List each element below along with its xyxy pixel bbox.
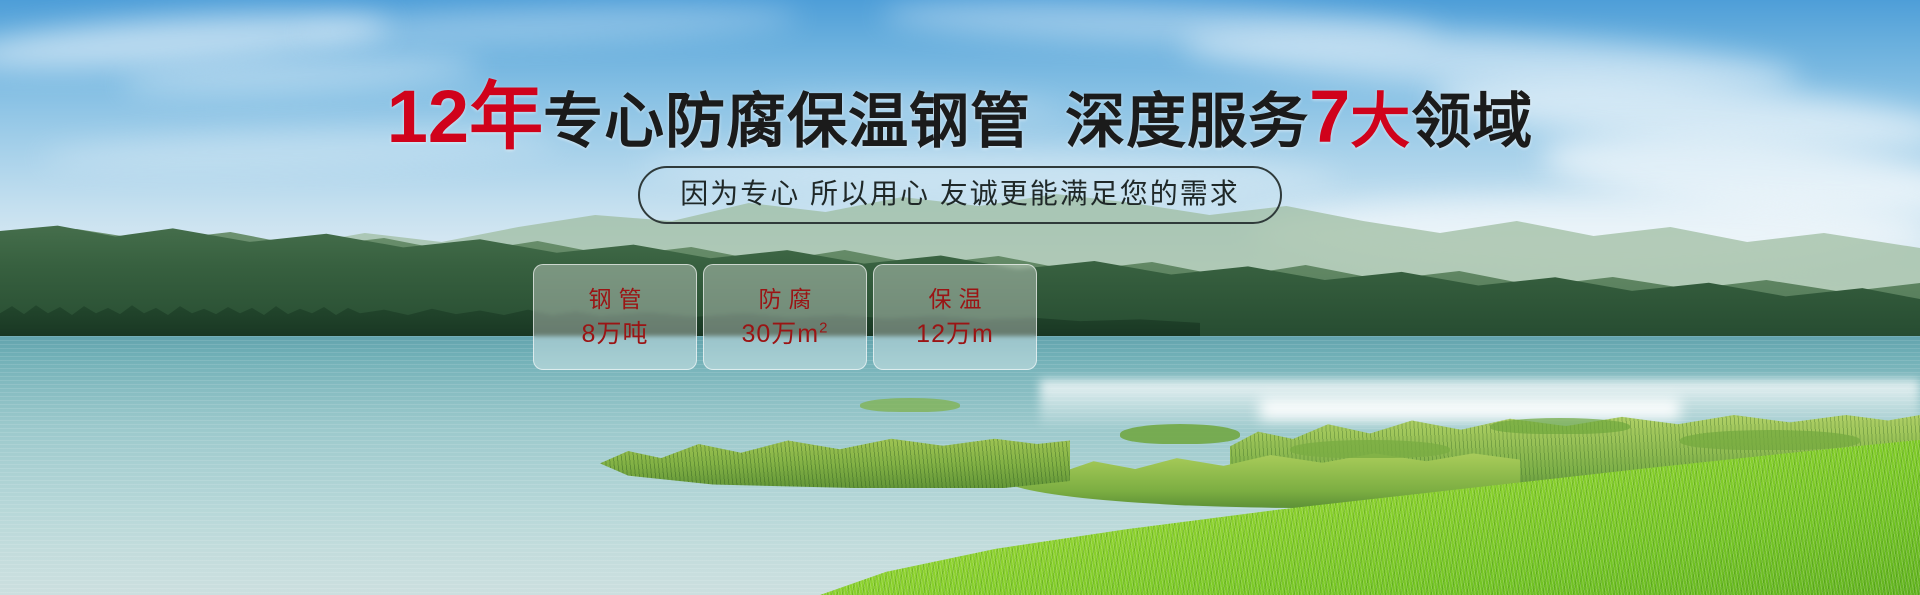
stat-card-label: 保温 [922, 286, 989, 312]
water-highlight [1260, 398, 1680, 420]
grass-tuft [1290, 440, 1450, 458]
stat-card-label: 防腐 [752, 286, 819, 312]
stat-card-value: 30万m2 [742, 320, 829, 348]
headline-da-red: 大 [1350, 88, 1411, 155]
stat-card-value-text: 30万m [742, 320, 820, 348]
headline-service-text: 深度服务 [1065, 88, 1309, 155]
grass-tuft [860, 398, 960, 412]
banner-headline: 12年专心防腐保温钢管深度服务7大领域 [0, 84, 1920, 155]
grass-tuft [1490, 418, 1630, 434]
stat-card-anticorrosion[interactable]: 防腐 30万m2 [703, 264, 867, 370]
stat-card-value-text: 8万吨 [582, 320, 649, 348]
stat-card-steel-pipe[interactable]: 钢管 8万吨 [533, 264, 697, 370]
headline-main-text: 专心防腐保温钢管 [543, 88, 1031, 155]
stat-card-value: 8万吨 [582, 320, 649, 348]
stat-card-value: 12万m [916, 320, 994, 348]
headline-seven-red: 7 [1309, 75, 1350, 158]
banner-subtitle: 因为专心 所以用心 友诚更能满足您的需求 [638, 166, 1282, 224]
stat-cards: 钢管 8万吨 防腐 30万m2 保温 12万m [533, 264, 1037, 370]
stat-card-label: 钢管 [582, 286, 649, 312]
grass-tuft [1120, 424, 1240, 444]
headline-years-red: 12年 [387, 75, 543, 158]
grass-tuft [1680, 430, 1860, 450]
banner-subtitle-wrapper: 因为专心 所以用心 友诚更能满足您的需求 [0, 166, 1920, 224]
stat-card-value-superscript: 2 [819, 320, 828, 337]
stat-card-value-text: 12万m [916, 320, 994, 348]
hero-banner: 12年专心防腐保温钢管深度服务7大领域 因为专心 所以用心 友诚更能满足您的需求… [0, 0, 1920, 595]
stat-card-insulation[interactable]: 保温 12万m [873, 264, 1037, 370]
headline-fields-text: 领域 [1411, 88, 1533, 155]
